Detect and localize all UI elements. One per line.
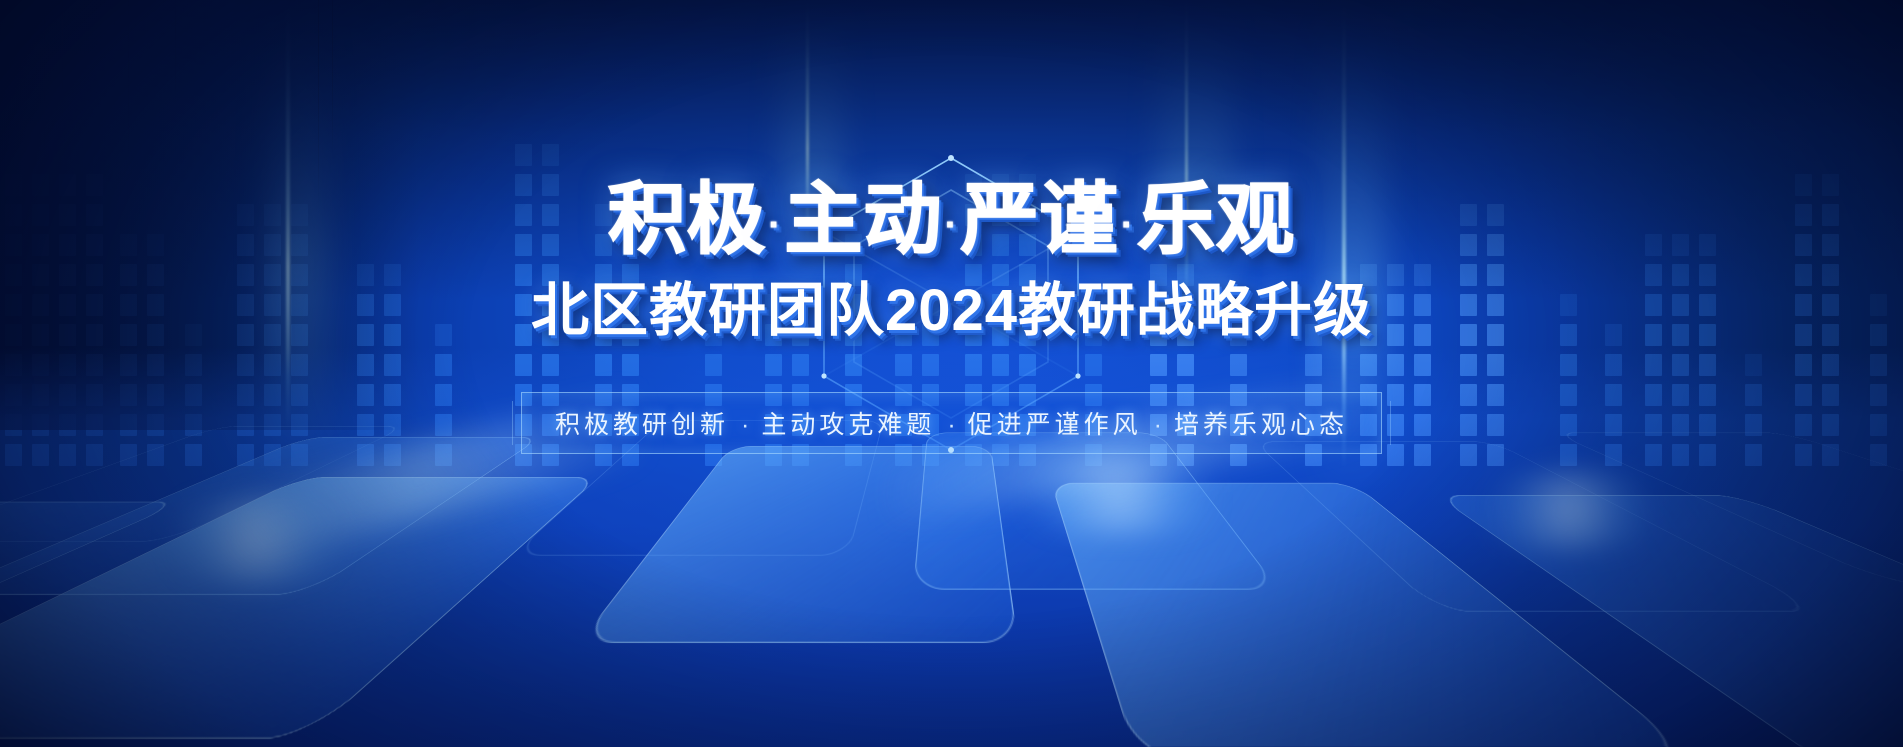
headline-separator: · [1119, 203, 1137, 247]
headline-word-3: 严谨 [961, 175, 1119, 263]
banner-content: 积极·主动·严谨·乐观 北区教研团队2024教研战略升级 积极教研创新·主动攻克… [0, 0, 1903, 747]
tagline-item-3: 促进严谨作风 [968, 411, 1142, 439]
tagline-separator: · [1142, 411, 1174, 439]
tagline: 积极教研创新·主动攻克难题·促进严谨作风·培养乐观心态 [555, 405, 1348, 441]
tagline-item-4: 培养乐观心态 [1174, 411, 1348, 439]
tagline-separator: · [729, 411, 761, 439]
tagline-separator: · [935, 411, 967, 439]
headline-word-1: 积极 [608, 175, 766, 263]
headline-separator: · [942, 203, 960, 247]
tagline-item-1: 积极教研创新 [555, 411, 729, 439]
headline-separator: · [766, 203, 784, 247]
promotional-banner: 积极·主动·严谨·乐观 北区教研团队2024教研战略升级 积极教研创新·主动攻克… [0, 0, 1903, 747]
tagline-item-2: 主动攻克难题 [761, 411, 935, 439]
headline-word-4: 乐观 [1137, 175, 1295, 263]
headline: 积极·主动·严谨·乐观 [608, 176, 1295, 268]
tagline-frame: 积极教研创新·主动攻克难题·促进严谨作风·培养乐观心态 [521, 392, 1382, 454]
headline-word-2: 主动 [784, 175, 942, 263]
subheadline: 北区教研团队2024教研战略升级 [531, 278, 1372, 344]
